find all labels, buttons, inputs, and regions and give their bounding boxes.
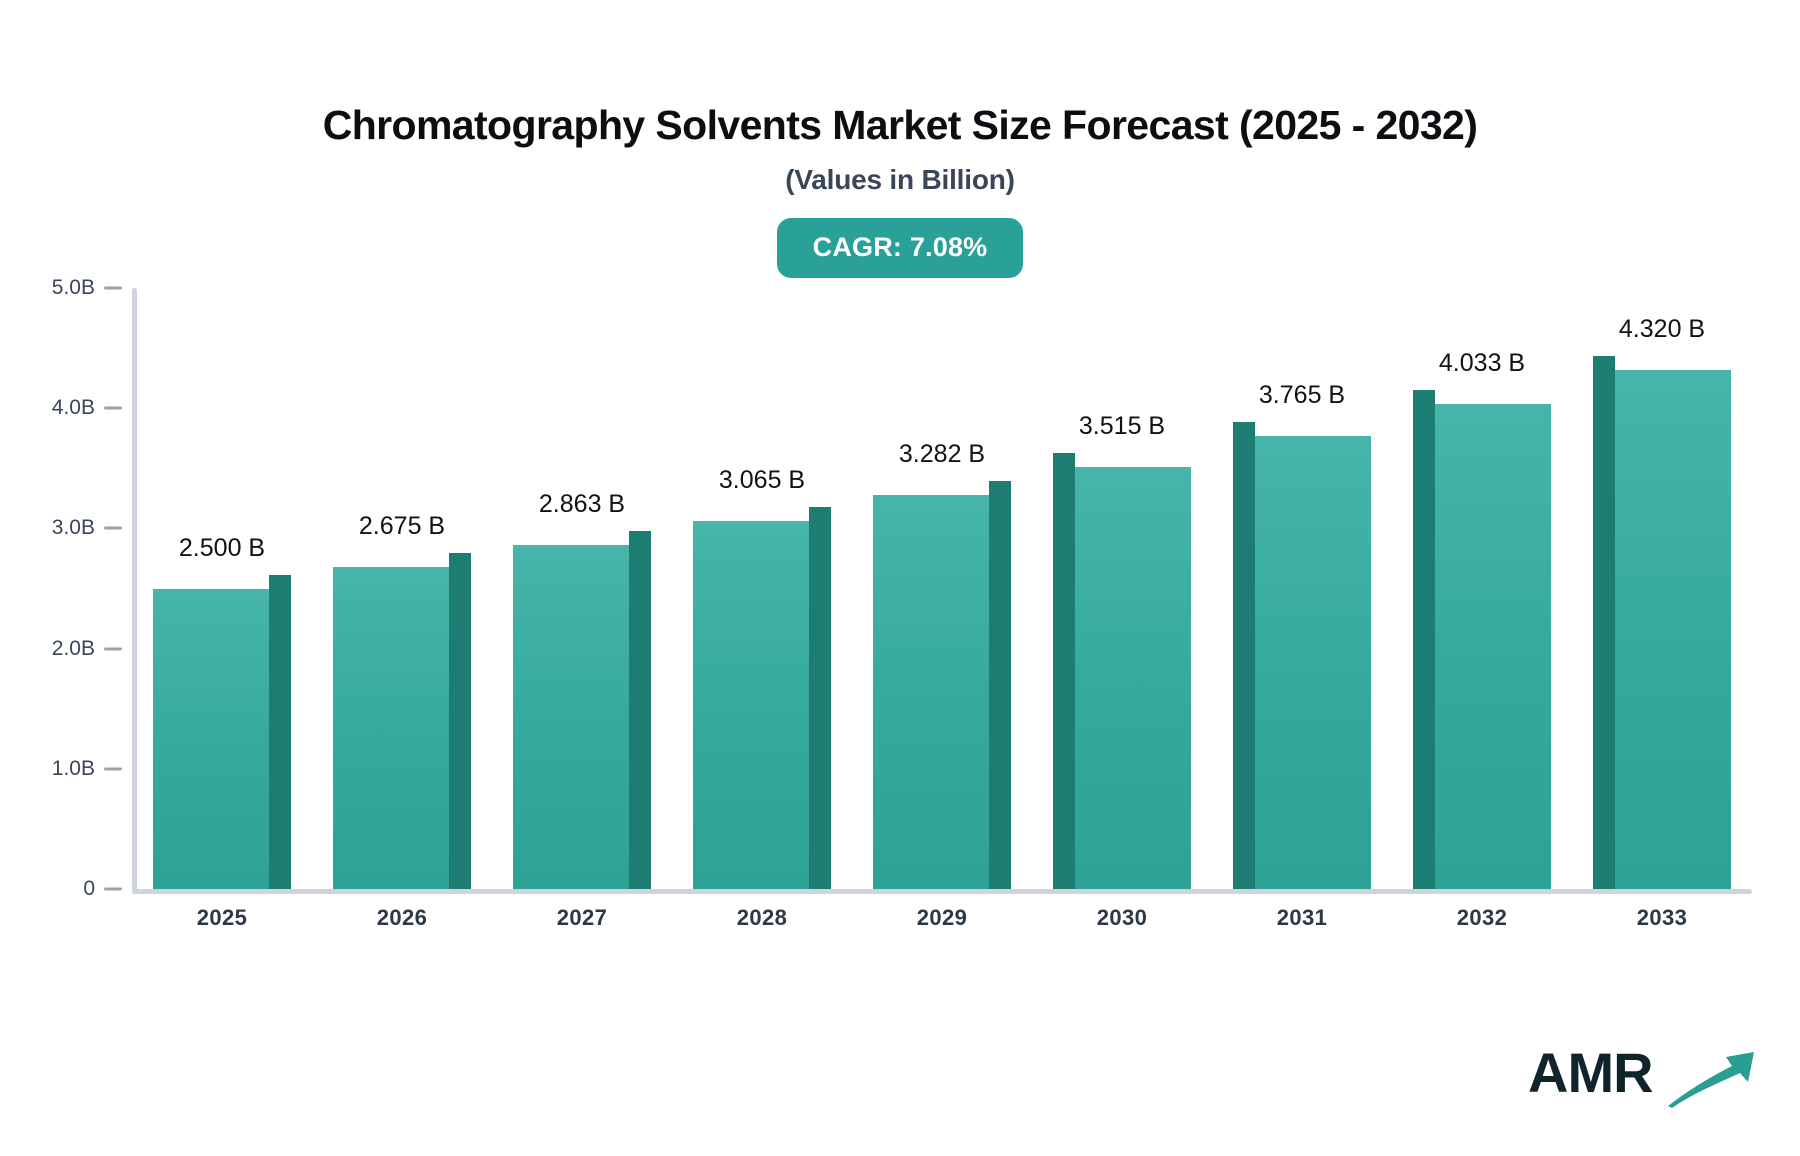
bar-column[interactable]: [672, 288, 852, 889]
bar-column[interactable]: [132, 288, 312, 889]
y-axis-tick: [104, 767, 122, 770]
bar-side-face: [629, 531, 651, 889]
bar-top-bevel: [809, 507, 831, 521]
bar-front-face: [693, 521, 809, 889]
bars-layer: 2.500 B2.675 B2.863 B3.065 B3.282 B3.515…: [132, 288, 1752, 889]
y-axis-label: 3.0B: [0, 516, 95, 540]
x-axis-label-2031: 2031: [1202, 905, 1402, 931]
bar-front-face: [1255, 436, 1371, 889]
bar-chart-plot: 5.0B4.0B3.0B2.0B1.0B0 2.500 B2.675 B2.86…: [0, 0, 1800, 1156]
bar-column[interactable]: [312, 288, 492, 889]
bar-column[interactable]: [852, 288, 1032, 889]
bar-column[interactable]: [1032, 288, 1212, 889]
x-axis-label-2028: 2028: [662, 905, 862, 931]
bar-top-bevel: [629, 531, 651, 545]
bar-top-bevel: [269, 575, 291, 589]
y-axis-label: 5.0B: [0, 276, 95, 300]
y-axis-tick: [104, 527, 122, 530]
bar-side-face: [269, 575, 291, 890]
bar-side-face: [1593, 356, 1615, 889]
bar-column[interactable]: [492, 288, 672, 889]
x-axis-label-2032: 2032: [1382, 905, 1582, 931]
x-axis-label-2030: 2030: [1022, 905, 1222, 931]
x-axis-label-2033: 2033: [1562, 905, 1762, 931]
y-axis-label: 1.0B: [0, 757, 95, 781]
bar-value-label: 4.320 B: [1532, 315, 1792, 344]
x-axis-label-2025: 2025: [122, 905, 322, 931]
bar-front-face: [333, 567, 449, 889]
bar-side-face: [449, 553, 471, 889]
bar-top-bevel: [1233, 422, 1255, 436]
y-axis-tick: [104, 888, 122, 891]
bar-top-bevel: [1053, 453, 1075, 467]
x-axis-label-2029: 2029: [842, 905, 1042, 931]
bar-front-face: [153, 589, 269, 890]
bar-front-face: [1615, 370, 1731, 889]
bar-top-bevel: [1413, 390, 1435, 404]
bar-column[interactable]: [1572, 288, 1752, 889]
y-axis-label: 0: [0, 877, 95, 901]
bar-side-face: [989, 481, 1011, 889]
bar-side-face: [1233, 422, 1255, 889]
y-axis-label: 2.0B: [0, 637, 95, 661]
growth-arrow-icon: [1666, 1048, 1758, 1110]
bar-top-bevel: [989, 481, 1011, 495]
x-axis-line: [132, 889, 1752, 894]
bar-front-face: [513, 545, 629, 889]
y-axis-label: 4.0B: [0, 396, 95, 420]
bar-front-face: [1435, 404, 1551, 889]
y-axis-tick: [104, 407, 122, 410]
bar-side-face: [1053, 453, 1075, 890]
bar-side-face: [809, 507, 831, 889]
bar-front-face: [1075, 467, 1191, 890]
bar-top-bevel: [449, 553, 471, 567]
amr-logo: AMR: [1528, 1040, 1758, 1130]
x-axis-label-2026: 2026: [302, 905, 502, 931]
bar-front-face: [873, 495, 989, 889]
bar-top-bevel: [1593, 356, 1615, 370]
y-axis-tick: [104, 287, 122, 290]
y-axis-tick: [104, 647, 122, 650]
x-axis-label-2027: 2027: [482, 905, 682, 931]
bar-side-face: [1413, 390, 1435, 889]
logo-wordmark: AMR: [1528, 1040, 1653, 1105]
